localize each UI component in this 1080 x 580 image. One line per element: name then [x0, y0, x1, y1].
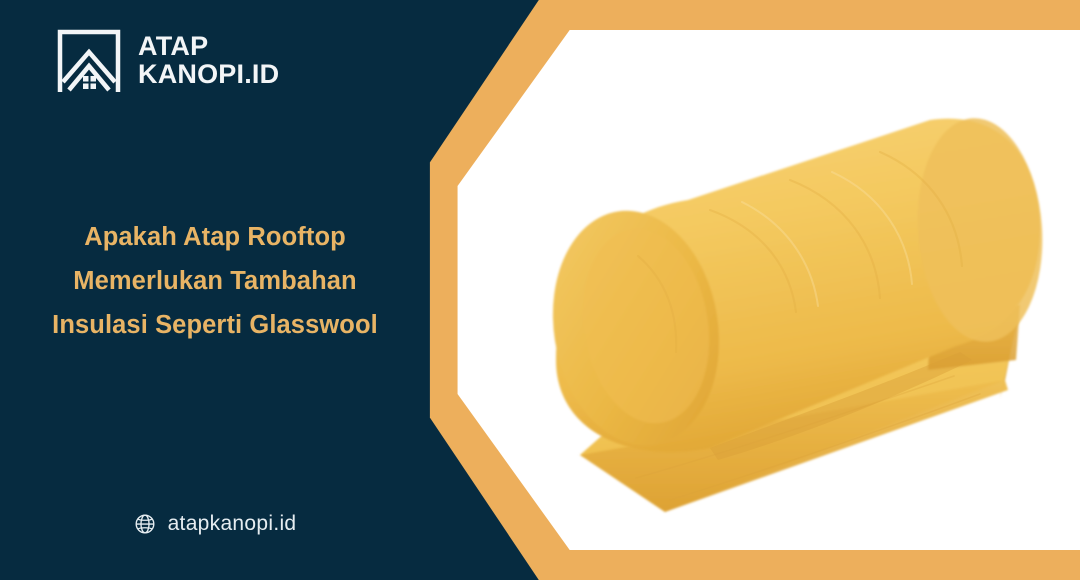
page-title: Apakah Atap Rooftop Memerlukan Tambahan …	[22, 216, 408, 348]
promo-banner: ATAP KANOPI.ID Apakah Atap Rooftop Memer…	[0, 0, 1080, 580]
glasswool-product-image	[460, 60, 1080, 520]
brand-name-line1: ATAP	[138, 33, 279, 61]
website-footer[interactable]: atapkanopi.id	[22, 512, 408, 536]
image-panel	[420, 0, 1080, 580]
website-url: atapkanopi.id	[168, 512, 297, 536]
house-roof-icon	[56, 26, 122, 96]
brand-logo[interactable]: ATAP KANOPI.ID	[56, 26, 279, 96]
brand-name: ATAP KANOPI.ID	[138, 33, 279, 88]
globe-icon	[134, 513, 156, 535]
brand-name-line2: KANOPI.ID	[138, 61, 279, 89]
